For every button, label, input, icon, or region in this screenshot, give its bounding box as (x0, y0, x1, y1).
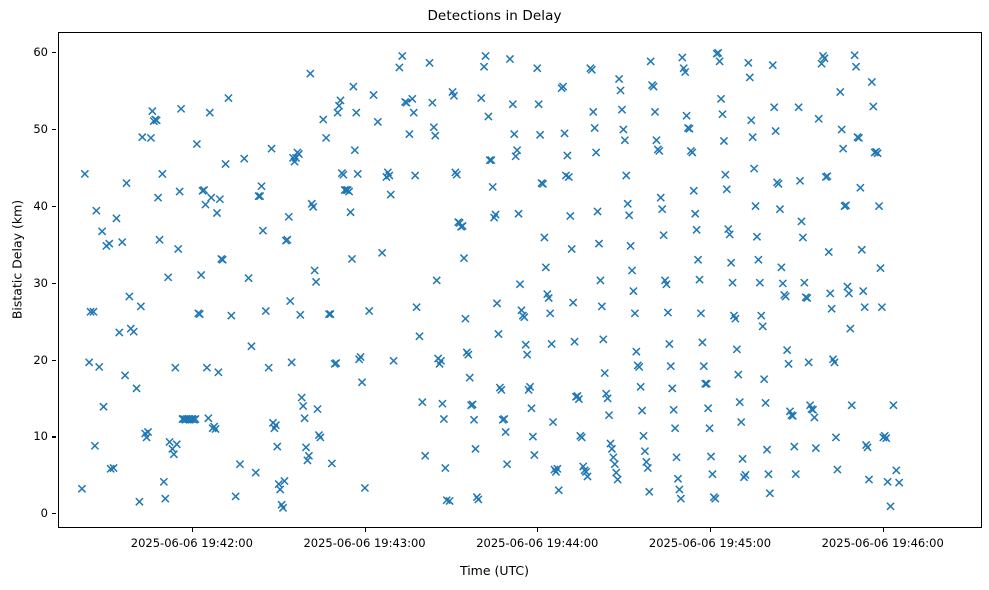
scatter-marker (462, 315, 469, 322)
scatter-marker (252, 469, 259, 476)
scatter-marker (763, 446, 770, 453)
scatter-marker (664, 309, 671, 316)
scatter-marker (623, 172, 630, 179)
y-tick-mark (52, 513, 56, 514)
scatter-marker (215, 369, 222, 376)
scatter-marker (847, 325, 854, 332)
scatter-marker (878, 304, 885, 311)
scatter-marker (784, 346, 791, 353)
scatter-marker (745, 59, 752, 66)
scatter-marker (123, 180, 130, 187)
y-tick-label: 20 (33, 353, 48, 367)
scatter-marker (100, 403, 107, 410)
scatter-marker (300, 402, 307, 409)
scatter-marker (752, 203, 759, 210)
page-title: Detections in Delay (0, 8, 989, 24)
scatter-marker (144, 428, 151, 435)
scatter-marker (637, 383, 644, 390)
scatter-marker (630, 288, 637, 295)
scatter-marker (722, 171, 729, 178)
scatter-marker (610, 454, 617, 461)
scatter-marker (776, 206, 783, 213)
scatter-marker (617, 87, 624, 94)
scatter-marker (535, 101, 542, 108)
scatter-marker (679, 54, 686, 61)
scatter-marker (827, 290, 834, 297)
scatter-marker (746, 74, 753, 81)
scatter-marker (762, 399, 769, 406)
scatter-marker (285, 213, 292, 220)
scatter-marker (627, 242, 634, 249)
scatter-marker (193, 140, 200, 147)
scatter-marker (348, 255, 355, 262)
scatter-marker (716, 58, 723, 65)
y-tick-mark (52, 206, 56, 207)
scatter-marker (733, 346, 740, 353)
scatter-marker (337, 97, 344, 104)
scatter-marker (796, 177, 803, 184)
scatter-marker (893, 467, 900, 474)
scatter-marker (155, 194, 162, 201)
scatter-marker (868, 78, 875, 85)
scatter-marker (116, 329, 123, 336)
scatter-marker (297, 311, 304, 318)
scatter-marker (166, 438, 173, 445)
scatter-marker (676, 486, 683, 493)
scatter-marker (268, 145, 275, 152)
scatter-marker (429, 99, 436, 106)
scatter-marker (607, 440, 614, 447)
scatter-marker (700, 363, 707, 370)
x-axis-tick-marks (58, 528, 982, 534)
scatter-marker (232, 493, 239, 500)
scatter-marker (798, 218, 805, 225)
scatter-marker (864, 444, 871, 451)
scatter-marker (236, 461, 243, 468)
scatter-marker (598, 303, 605, 310)
scatter-marker (370, 91, 377, 98)
scatter-marker (750, 165, 757, 172)
scatter-marker (541, 234, 548, 241)
scatter-marker (511, 131, 518, 138)
scatter-marker (498, 386, 505, 393)
scatter-marker (426, 59, 433, 66)
scatter-marker (593, 149, 600, 156)
scatter-marker (350, 83, 357, 90)
scatter-marker (121, 372, 128, 379)
scatter-marker (666, 340, 673, 347)
scatter-marker (834, 466, 841, 473)
scatter-marker (565, 173, 572, 180)
scatter-marker (815, 115, 822, 122)
scatter-marker (778, 264, 785, 271)
scatter-marker (564, 152, 571, 159)
scatter-marker (845, 290, 852, 297)
scatter-marker (495, 330, 502, 337)
scatter-marker (262, 307, 269, 314)
scatter-marker (503, 461, 510, 468)
scatter-marker (707, 453, 714, 460)
scatter-marker (106, 240, 113, 247)
scatter-marker (644, 464, 651, 471)
scatter-marker (98, 228, 105, 235)
scatter-marker (208, 194, 215, 201)
y-tick-mark (52, 129, 56, 130)
scatter-marker (692, 210, 699, 217)
scatter-marker (595, 240, 602, 247)
scatter-marker (133, 385, 140, 392)
scatter-marker (172, 364, 179, 371)
scatter-marker (812, 445, 819, 452)
scatter-marker (725, 225, 732, 232)
scatter-marker (353, 109, 360, 116)
scatter-marker (301, 415, 308, 422)
scatter-marker (571, 338, 578, 345)
scatter-marker (312, 278, 319, 285)
scatter-marker (795, 104, 802, 111)
scatter-marker (130, 328, 137, 335)
scatter-marker (311, 267, 318, 274)
scatter-marker (887, 503, 894, 510)
scatter-marker (256, 193, 263, 200)
scatter-marker (832, 434, 839, 441)
scatter-marker (481, 63, 488, 70)
matplotlib-figure: Detections in Delay 0102030405060 2025-0… (0, 0, 989, 590)
scatter-marker (440, 415, 447, 422)
scatter-marker (756, 279, 763, 286)
scatter-marker (139, 134, 146, 141)
y-tick-label: 30 (33, 276, 48, 290)
scatter-marker (202, 201, 209, 208)
scatter-marker (176, 188, 183, 195)
scatter-marker (396, 64, 403, 71)
y-tick-label: 50 (33, 122, 48, 136)
scatter-marker (620, 126, 627, 133)
x-tick-label: 2025-06-06 19:45:00 (649, 536, 771, 550)
scatter-marker (488, 157, 495, 164)
scatter-marker (516, 281, 523, 288)
scatter-marker (489, 183, 496, 190)
scatter-marker (703, 380, 710, 387)
scatter-marker (852, 63, 859, 70)
scatter-marker (726, 231, 733, 238)
scatter-marker (334, 109, 341, 116)
scatter-marker (555, 487, 562, 494)
scatter-marker (472, 445, 479, 452)
scatter-marker (86, 359, 93, 366)
scatter-marker (419, 399, 426, 406)
scatter-marker (755, 256, 762, 263)
scatter-marker (844, 283, 851, 290)
scatter-marker (706, 425, 713, 432)
scatter-marker (837, 88, 844, 95)
scatter-marker (328, 460, 335, 467)
scatter-marker (265, 364, 272, 371)
x-tick-mark (365, 528, 366, 532)
y-tick-mark (52, 52, 56, 53)
scatter-marker (621, 137, 628, 144)
scatter-marker (149, 108, 156, 115)
scatter-marker (534, 65, 541, 72)
scatter-marker (660, 232, 667, 239)
scatter-marker (670, 406, 677, 413)
scatter-marker (475, 496, 482, 503)
scatter-marker (320, 116, 327, 123)
scatter-marker (442, 464, 449, 471)
y-axis-title: Bistatic Delay (km) (10, 130, 25, 390)
scatter-marker (857, 184, 864, 191)
scatter-marker (432, 132, 439, 139)
scatter-marker (410, 109, 417, 116)
scatter-marker (624, 200, 631, 207)
plot-axes-area (58, 32, 982, 528)
scatter-marker (633, 348, 640, 355)
scatter-marker (147, 134, 154, 141)
scatter-marker (430, 124, 437, 131)
scatter-marker (255, 193, 262, 200)
scatter-marker (137, 303, 144, 310)
scatter-marker (478, 95, 485, 102)
x-tick-mark (192, 528, 193, 532)
scatter-marker (723, 186, 730, 193)
scatter-marker (594, 208, 601, 215)
scatter-marker (717, 95, 724, 102)
scatter-marker (748, 117, 755, 124)
scatter-marker (245, 274, 252, 281)
scatter-marker (590, 108, 597, 115)
scatter-marker (673, 454, 680, 461)
scatter-marker (742, 471, 749, 478)
scatter-marker (216, 196, 223, 203)
scatter-marker (170, 451, 177, 458)
scatter-marker (162, 495, 169, 502)
scatter-marker (482, 52, 489, 59)
scatter-marker (736, 399, 743, 406)
scatter-marker (307, 70, 314, 77)
scatter-marker (515, 210, 522, 217)
scatter-marker (537, 131, 544, 138)
scatter-marker (647, 58, 654, 65)
scatter-marker (753, 233, 760, 240)
scatter-marker (126, 293, 133, 300)
scatter-marker (470, 416, 477, 423)
scatter-marker (465, 351, 472, 358)
scatter-marker (705, 405, 712, 412)
scatter-marker (611, 461, 618, 468)
scatter-marker (690, 187, 697, 194)
scatter-marker (335, 102, 342, 109)
scatter-marker (91, 442, 98, 449)
scatter-marker (317, 434, 324, 441)
scatter-marker (248, 343, 255, 350)
scatter-marker (358, 379, 365, 386)
x-tick-label: 2025-06-06 19:43:00 (303, 536, 425, 550)
scatter-marker (825, 248, 832, 255)
scatter-marker (567, 212, 574, 219)
scatter-marker (646, 488, 653, 495)
scatter-marker (772, 127, 779, 134)
x-axis-tick-labels: 2025-06-06 19:42:002025-06-06 19:43:0020… (58, 536, 982, 554)
scatter-marker (528, 405, 535, 412)
scatter-marker (512, 153, 519, 160)
scatter-marker (156, 236, 163, 243)
scatter-marker (697, 310, 704, 317)
scatter-marker (699, 339, 706, 346)
scatter-marker (347, 209, 354, 216)
scatter-marker (877, 265, 884, 272)
scatter-marker (298, 394, 305, 401)
scatter-marker (759, 323, 766, 330)
scatter-marker (651, 108, 658, 115)
scatter-marker (696, 276, 703, 283)
scatter-marker (159, 170, 166, 177)
scatter-marker (399, 52, 406, 59)
scatter-marker (792, 471, 799, 478)
scatter-marker (765, 471, 772, 478)
scatter-marker (779, 280, 786, 287)
scatter-marker (729, 279, 736, 286)
y-axis-tick-marks (52, 32, 58, 528)
y-tick-label: 60 (33, 45, 48, 59)
scatter-marker (601, 369, 608, 376)
scatter-marker (493, 300, 500, 307)
scatter-marker (387, 191, 394, 198)
scatter-marker (640, 432, 647, 439)
scatter-marker (366, 307, 373, 314)
scatter-marker (739, 455, 746, 462)
scatter-marker (749, 134, 756, 141)
scatter-marker (287, 297, 294, 304)
scatter-marker (374, 118, 381, 125)
scatter-marker (259, 227, 266, 234)
scatter-marker (801, 279, 808, 286)
scatter-marker (277, 486, 284, 493)
scatter-marker (542, 264, 549, 271)
scatter-marker (325, 310, 332, 317)
scatter-marker (638, 407, 645, 414)
y-tick-mark (52, 283, 56, 284)
scatter-marker (858, 246, 865, 253)
y-tick-label: 40 (33, 199, 48, 213)
scatter-marker (735, 371, 742, 378)
scatter-marker (884, 478, 891, 485)
scatter-marker (896, 479, 903, 486)
scatter-marker (361, 484, 368, 491)
scatter-marker (422, 452, 429, 459)
scatter-marker (669, 385, 676, 392)
scatter-marker (524, 351, 531, 358)
scatter-marker (631, 310, 638, 317)
scatter-marker (160, 478, 167, 485)
scatter-marker (113, 215, 120, 222)
scatter-marker (791, 443, 798, 450)
scatter-marker (626, 212, 633, 219)
scatter-marker (616, 75, 623, 82)
scatter-marker (258, 183, 265, 190)
scatter-marker (177, 105, 184, 112)
scatter-marker (506, 55, 513, 62)
scatter-marker (412, 172, 419, 179)
scatter-marker (547, 310, 554, 317)
scatter-marker (677, 495, 684, 502)
scatter-marker (213, 209, 220, 216)
scatter-marker (203, 364, 210, 371)
scatter-marker (413, 304, 420, 311)
x-tick-mark (883, 528, 884, 532)
scatter-marker (561, 130, 568, 137)
scatter-marker (288, 359, 295, 366)
y-tick-mark (52, 436, 56, 437)
scatter-marker (175, 245, 182, 252)
scatter-marker (549, 418, 556, 425)
scatter-marker (357, 353, 364, 360)
scatter-marker (890, 402, 897, 409)
scatter-marker (323, 134, 330, 141)
scatter-marker (875, 203, 882, 210)
scatter-marker (522, 341, 529, 348)
scatter-marker (241, 155, 248, 162)
scatter-marker (222, 160, 229, 167)
scatter-marker (628, 267, 635, 274)
scatter-marker (314, 405, 321, 412)
scatter-marker (643, 458, 650, 465)
scatter-marker (641, 448, 648, 455)
scatter-marker (785, 360, 792, 367)
scatter-marker (719, 111, 726, 118)
scatter-marker (379, 249, 386, 256)
scatter-marker (828, 305, 835, 312)
scatter-marker (653, 137, 660, 144)
scatter-marker (205, 415, 212, 422)
scatter-marker (416, 333, 423, 340)
scatter-marker (570, 299, 577, 306)
scatter-marker (738, 418, 745, 425)
scatter-marker (228, 312, 235, 319)
scatter-marker (674, 475, 681, 482)
scatter-marker (838, 126, 845, 133)
scatter-marker (618, 106, 625, 113)
scatter-marker (851, 52, 858, 59)
scatter-marker (693, 226, 700, 233)
scatter-marker (119, 239, 126, 246)
scatter-marker (453, 171, 460, 178)
scatter-marker (274, 443, 281, 450)
scatter-marker (613, 469, 620, 476)
scatter-marker (600, 336, 607, 343)
y-tick-label: 10 (33, 429, 48, 443)
x-tick-mark (710, 528, 711, 532)
scatter-marker (605, 412, 612, 419)
scatter-marker (659, 206, 666, 213)
x-tick-label: 2025-06-06 19:44:00 (476, 536, 598, 550)
scatter-marker (136, 498, 143, 505)
scatter-marker (597, 277, 604, 284)
scatter-marker (514, 147, 521, 154)
scatter-marker (766, 490, 773, 497)
scatter-marker (769, 62, 776, 69)
scatter-marker (870, 103, 877, 110)
y-tick-label: 0 (41, 506, 48, 520)
scatter-marker (81, 170, 88, 177)
scatter-marker (439, 400, 446, 407)
scatter-marker (225, 95, 232, 102)
scatter-marker (694, 256, 701, 263)
scatter-marker (799, 234, 806, 241)
scatter-marker (865, 476, 872, 483)
scatter-marker (406, 131, 413, 138)
scatter-marker (758, 312, 765, 319)
scatter-marker (614, 476, 621, 483)
